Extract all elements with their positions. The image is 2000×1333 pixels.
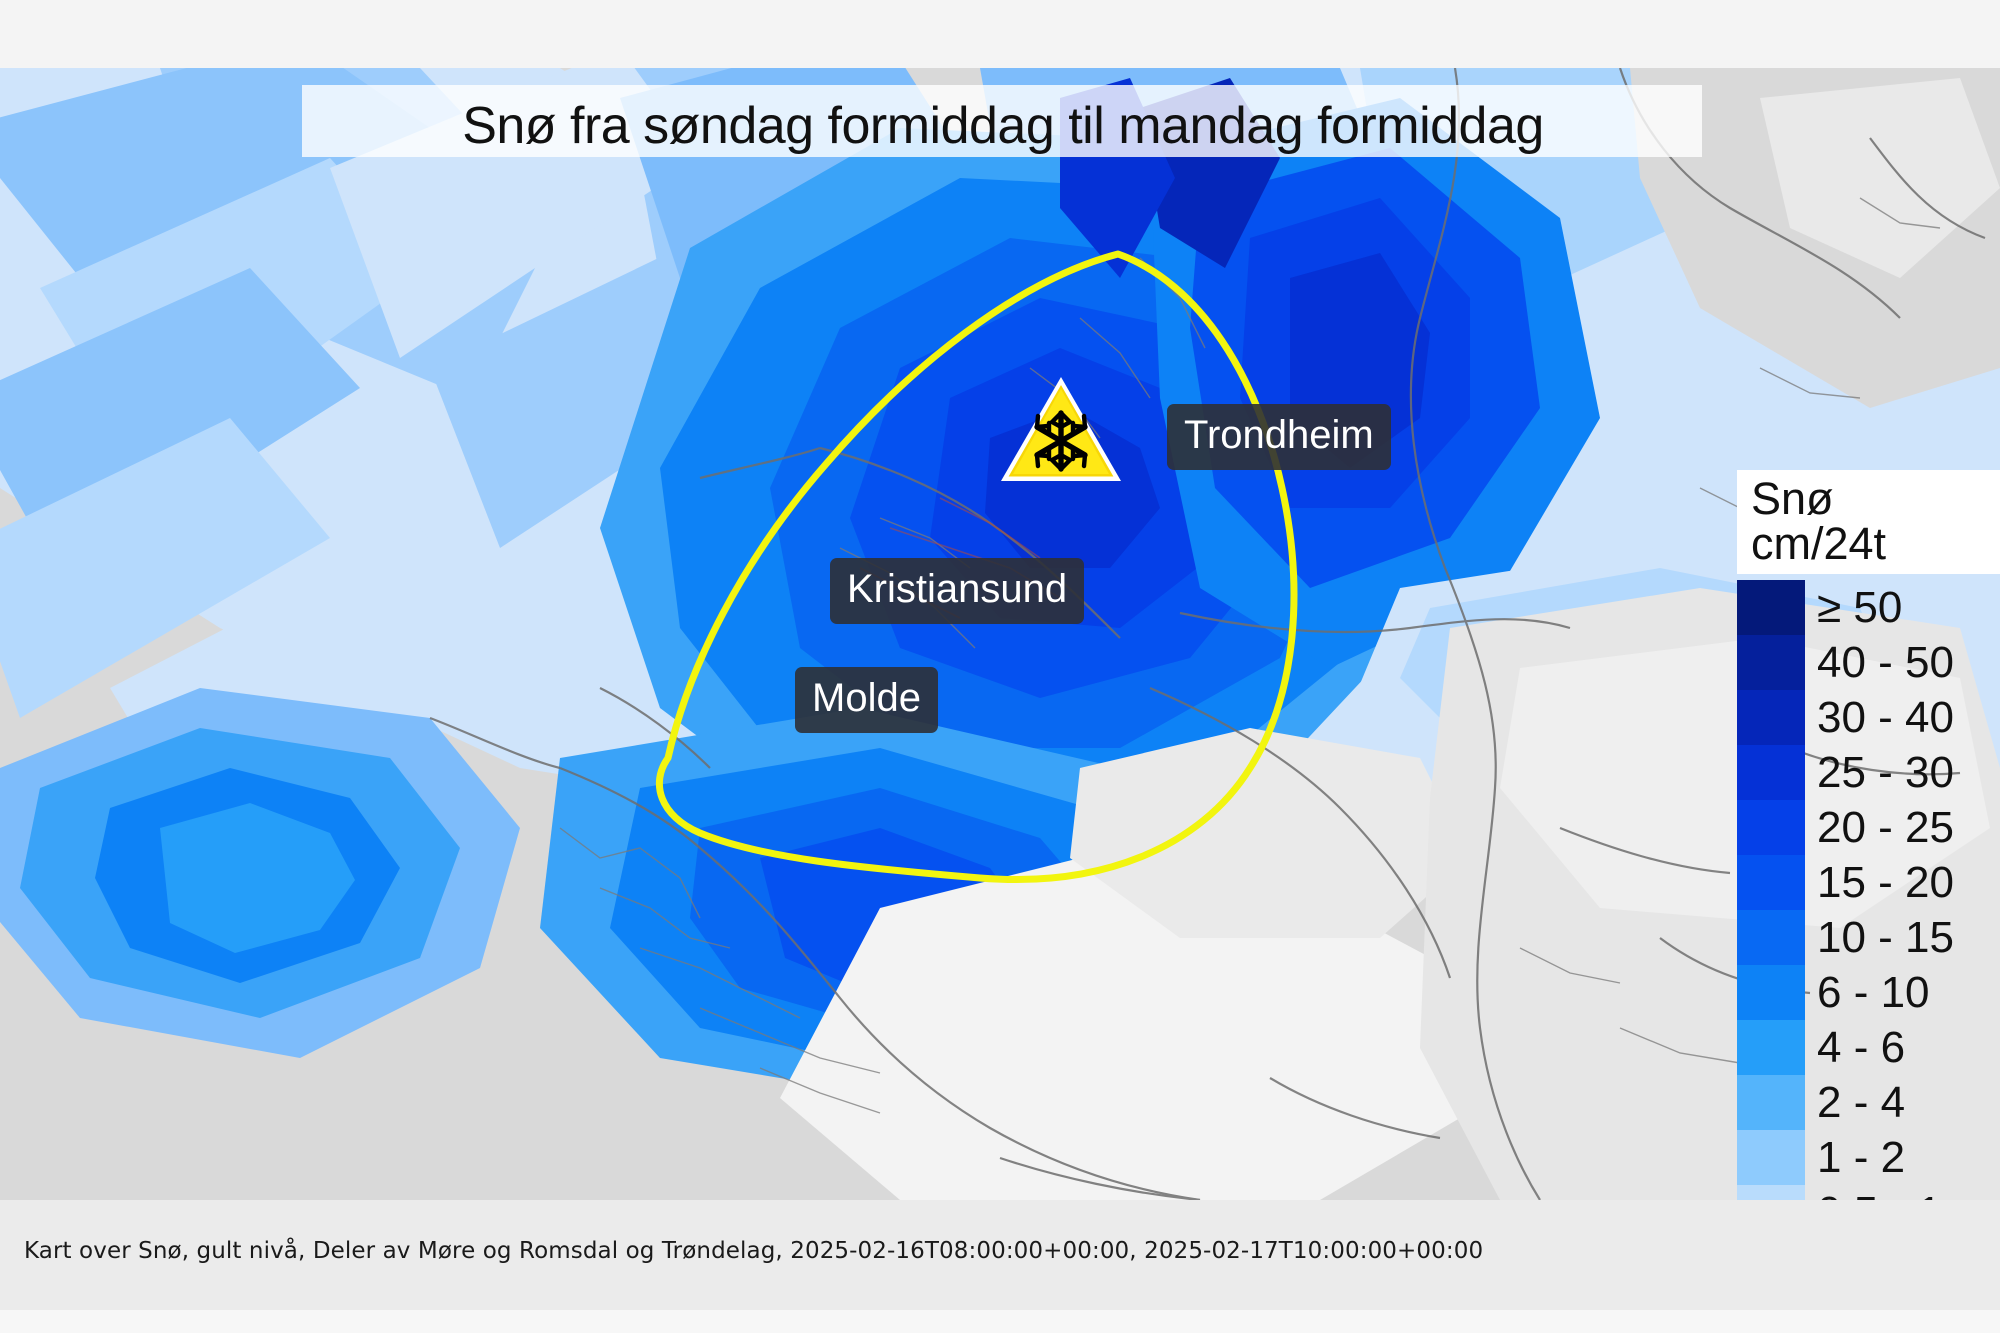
legend-swatch [1737, 635, 1805, 691]
legend-swatch [1737, 1130, 1805, 1186]
legend-label: 15 - 20 [1805, 861, 1954, 905]
city-label-kristiansund[interactable]: Kristiansund [830, 558, 1084, 624]
map-caption: Kart over Snø, gult nivå, Deler av Møre … [24, 1238, 1483, 1264]
legend-row: 2 - 4 [1737, 1075, 2000, 1130]
legend-label: 30 - 40 [1805, 696, 1954, 740]
legend-swatch [1737, 1020, 1805, 1076]
legend-row: 25 - 30 [1737, 745, 2000, 800]
legend-row: 4 - 6 [1737, 1020, 2000, 1075]
legend-swatch [1737, 965, 1805, 1021]
legend-heading-quantity: Snø [1751, 476, 2000, 521]
legend-row: 30 - 40 [1737, 690, 2000, 745]
legend-row: 6 - 10 [1737, 965, 2000, 1020]
legend-row: 1 - 2 [1737, 1130, 2000, 1185]
legend-label: ≥ 50 [1805, 586, 1902, 630]
legend-label: 6 - 10 [1805, 971, 1930, 1015]
legend-swatch [1737, 910, 1805, 966]
legend: Snø cm/24t ≥ 5040 - 5030 - 4025 - 3020 -… [1737, 470, 2000, 1240]
legend-scale: ≥ 5040 - 5030 - 4025 - 3020 - 2515 - 201… [1737, 580, 2000, 1240]
page-title: Snø fra søndag formiddag til mandag form… [318, 96, 1688, 156]
legend-label: 2 - 4 [1805, 1081, 1905, 1125]
legend-row: 10 - 15 [1737, 910, 2000, 965]
legend-header: Snø cm/24t [1737, 470, 2000, 574]
legend-label: 25 - 30 [1805, 751, 1954, 795]
snow-warning-icon[interactable] [997, 373, 1125, 494]
legend-swatch [1737, 1075, 1805, 1131]
legend-swatch [1737, 800, 1805, 856]
map-canvas[interactable] [0, 68, 2000, 1200]
legend-swatch [1737, 745, 1805, 801]
legend-label: 10 - 15 [1805, 916, 1954, 960]
legend-swatch [1737, 690, 1805, 746]
legend-swatch [1737, 855, 1805, 911]
legend-heading-unit: cm/24t [1751, 521, 2000, 566]
legend-label: 40 - 50 [1805, 641, 1954, 685]
legend-row: ≥ 50 [1737, 580, 2000, 635]
legend-row: 20 - 25 [1737, 800, 2000, 855]
legend-row: 15 - 20 [1737, 855, 2000, 910]
legend-label: 20 - 25 [1805, 806, 1954, 850]
top-chrome-band [0, 0, 2000, 68]
city-label-molde[interactable]: Molde [795, 667, 938, 733]
city-label-trondheim[interactable]: Trondheim [1167, 404, 1391, 470]
legend-swatch [1737, 580, 1805, 636]
legend-label: 1 - 2 [1805, 1136, 1905, 1180]
weather-map-page: Snø fra søndag formiddag til mandag form… [0, 0, 2000, 1333]
legend-row: 40 - 50 [1737, 635, 2000, 690]
legend-label: 4 - 6 [1805, 1026, 1905, 1070]
bottom-chrome-band [0, 1310, 2000, 1333]
warning-area-polygon[interactable] [0, 68, 2000, 1200]
